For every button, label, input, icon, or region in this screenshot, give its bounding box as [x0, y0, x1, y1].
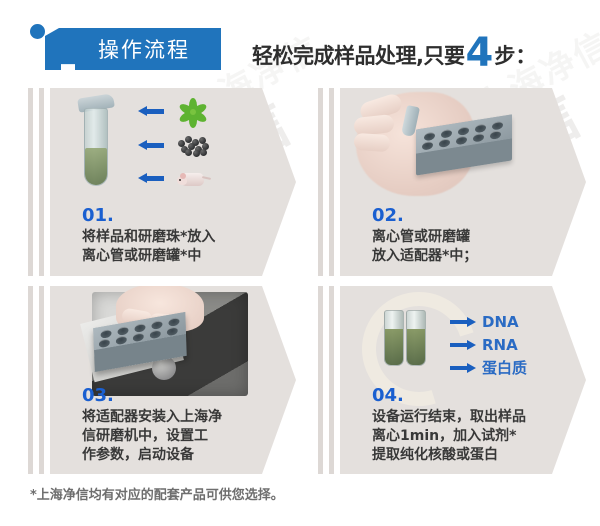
output-label: RNA — [482, 336, 518, 354]
step-caption-line: 将适配器安装入上海净 — [82, 408, 288, 427]
arrow-right-icon — [450, 340, 476, 350]
steps-grid: 01. 将样品和研磨珠*放入 离心管或研磨罐*中 — [0, 86, 600, 478]
subtitle-text-1: 轻松完成样品处理,只要 — [252, 40, 464, 70]
step-caption-line: 提取纯化核酸或蛋白 — [372, 446, 578, 465]
centrifuge-tube-icon — [76, 96, 116, 192]
panel-accent-bar — [318, 286, 323, 474]
step-01-caption: 01. 将样品和研磨珠*放入 离心管或研磨罐*中 — [82, 206, 288, 266]
lab-mouse-icon — [176, 170, 210, 189]
panel-body: 01. 将样品和研磨珠*放入 离心管或研磨罐*中 — [50, 88, 296, 276]
arrow-right-icon — [450, 363, 476, 373]
step-03-caption: 03. 将适配器安装入上海净 信研磨机中，设置工 作参数，启动设备 — [82, 386, 288, 465]
panel-accent-bar — [39, 88, 44, 276]
step-caption-line: 作参数，启动设备 — [82, 446, 288, 465]
step-01-illustration — [50, 88, 296, 208]
output-label: DNA — [482, 313, 519, 331]
sample-vial-icon — [406, 310, 426, 366]
panel-accent-bar — [318, 88, 323, 276]
output-item: 蛋白质 — [450, 356, 580, 379]
grinding-beads-icon — [176, 134, 210, 156]
footer-note: *上海净信均有对应的配套产品可供您选择。 — [30, 484, 284, 503]
panel-accent-bar — [28, 88, 33, 276]
arrow-left-icon — [138, 173, 164, 184]
sample-vial-icon — [384, 310, 404, 366]
subtitle-step-count: 4 — [465, 33, 493, 73]
step-panel-04: DNA RNA 蛋白质 — [318, 286, 586, 474]
step-number: 03. — [82, 386, 288, 406]
panel-body: DNA RNA 蛋白质 — [340, 286, 586, 474]
panel-accent-bar — [39, 286, 44, 474]
output-list: DNA RNA 蛋白质 — [450, 310, 580, 379]
subtitle-colon: ： — [515, 40, 536, 70]
step-number: 01. — [82, 206, 288, 226]
step-number: 04. — [372, 386, 578, 406]
step-02-illustration — [340, 88, 586, 208]
step-panel-01: 01. 将样品和研磨珠*放入 离心管或研磨罐*中 — [28, 88, 296, 276]
subtitle-text-2: 步 — [494, 40, 515, 70]
step-panel-02: 02. 离心管或研磨罐 放入适配器*中； — [318, 88, 586, 276]
step-caption-line: 放入适配器*中； — [372, 247, 578, 266]
plant-leaf-icon — [178, 98, 208, 126]
panel-body: 02. 离心管或研磨罐 放入适配器*中； — [340, 88, 586, 276]
step-02-caption: 02. 离心管或研磨罐 放入适配器*中； — [372, 206, 578, 266]
arrow-left-icon — [138, 106, 164, 117]
step-panel-03: 03. 将适配器安装入上海净 信研磨机中，设置工 作参数，启动设备 — [28, 286, 296, 474]
header-subtitle: 轻松完成样品处理,只要 4 步 ： — [252, 30, 536, 76]
panel-body: 03. 将适配器安装入上海净 信研磨机中，设置工 作参数，启动设备 — [50, 286, 296, 474]
step-number: 02. — [372, 206, 578, 226]
panel-accent-bar — [329, 286, 334, 474]
step-caption-line: 设备运行结束，取出样品 — [372, 408, 578, 427]
step-caption-line: 离心管或研磨罐 — [372, 228, 578, 247]
output-item: DNA — [450, 310, 580, 333]
header: 操作流程 轻松完成样品处理,只要 4 步 ： — [0, 0, 600, 88]
step-caption-line: 离心1min，加入试剂* — [372, 427, 578, 446]
arrow-left-icon — [138, 140, 164, 151]
step-caption-line: 将样品和研磨珠*放入 — [82, 228, 288, 247]
step-caption-line: 离心管或研磨罐*中 — [82, 247, 288, 266]
panel-accent-bar — [28, 286, 33, 474]
page-title: 操作流程 — [45, 28, 221, 70]
panel-accent-bar — [329, 88, 334, 276]
step-04-caption: 04. 设备运行结束，取出样品 离心1min，加入试剂* 提取纯化核酸或蛋白 — [372, 386, 578, 465]
output-label: 蛋白质 — [482, 357, 527, 378]
arrow-right-icon — [450, 317, 476, 327]
output-item: RNA — [450, 333, 580, 356]
decorative-dot — [30, 24, 45, 39]
step-caption-line: 信研磨机中，设置工 — [82, 427, 288, 446]
